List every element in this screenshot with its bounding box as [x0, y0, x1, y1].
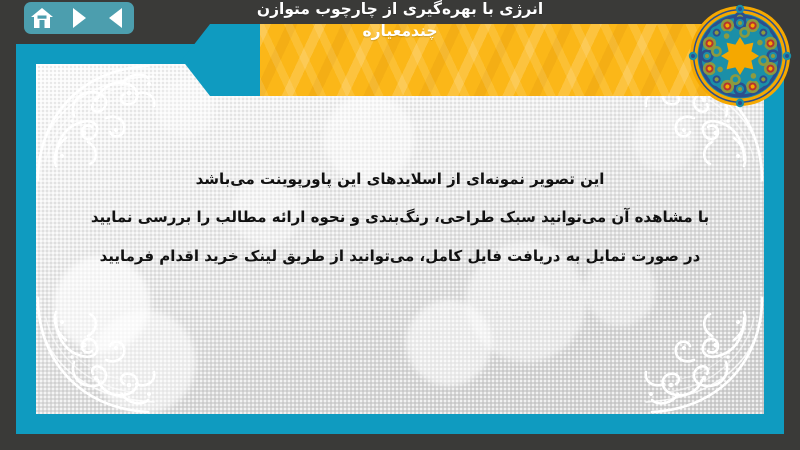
bokeh-circle — [92, 310, 196, 414]
triangle-right-icon — [73, 8, 86, 28]
navigation-bar — [24, 2, 134, 34]
title-banner — [182, 24, 742, 96]
banner-gold-band — [260, 24, 742, 96]
home-button[interactable] — [28, 5, 56, 31]
next-slide-button[interactable] — [65, 5, 93, 31]
bottom-bar — [0, 434, 800, 450]
slide-body-text: این تصویر نمونه‌ای از اسلایدهای این پاور… — [76, 160, 724, 275]
persian-mandala-icon — [688, 4, 792, 108]
slide-content-area: این تصویر نمونه‌ای از اسلایدهای این پاور… — [36, 64, 764, 414]
home-icon — [30, 7, 54, 29]
body-line: با مشاهده آن می‌توانید سبک طراحی، رنگ‌بن… — [76, 198, 724, 236]
prev-slide-button[interactable] — [102, 5, 130, 31]
triangle-left-icon — [109, 8, 122, 28]
slide-stage: این تصویر نمونه‌ای از اسلایدهای این پاور… — [0, 0, 800, 450]
title-line: انرژی با بهره‌گیری از چارچوب متوازن — [120, 0, 680, 21]
body-line: این تصویر نمونه‌ای از اسلایدهای این پاور… — [76, 160, 724, 198]
banner-arrow-teal — [182, 24, 262, 96]
body-line: در صورت تمایل به دریافت فایل کامل، می‌تو… — [76, 237, 724, 275]
slide-card-frame: این تصویر نمونه‌ای از اسلایدهای این پاور… — [16, 44, 784, 434]
